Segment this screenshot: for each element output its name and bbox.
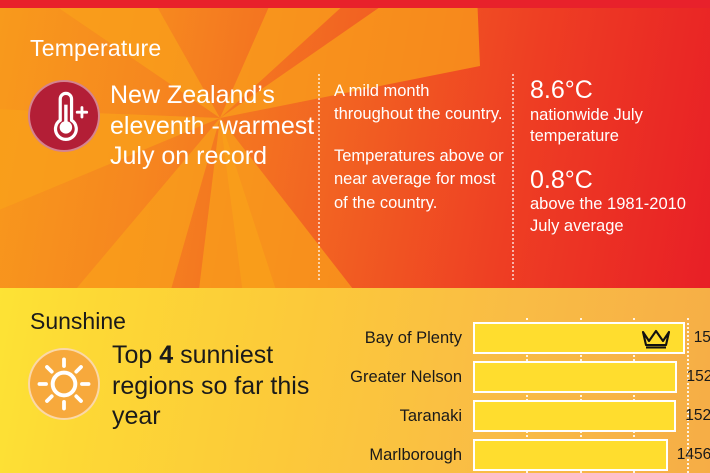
top-red-strip	[0, 0, 710, 8]
temperature-section: Temperature New Zealand’s eleventh -warm…	[0, 8, 710, 288]
chart-row: Bay of Plenty1583	[330, 320, 710, 356]
temperature-headline: New Zealand’s eleventh -warmest July on …	[110, 80, 320, 172]
chart-row-label: Marlborough	[330, 437, 462, 473]
divider-right	[512, 74, 514, 280]
chart-bar	[473, 361, 677, 393]
infographic-page: Temperature New Zealand’s eleventh -warm…	[0, 0, 710, 473]
sunniest-regions-bar-chart: Bay of Plenty1583Greater Nelson1529Taran…	[330, 318, 710, 473]
sunshine-headline-number: 4	[159, 341, 173, 369]
sun-glyph	[30, 350, 98, 418]
stat-value: 8.6°C	[530, 76, 705, 105]
sunshine-headline-pre: Top	[112, 341, 159, 369]
crown-icon	[641, 328, 671, 349]
chart-row-label: Bay of Plenty	[330, 320, 462, 356]
chart-bar-value: 1520	[685, 398, 710, 434]
chart-row-label: Taranaki	[330, 398, 462, 434]
stat-item: 8.6°C nationwide July temperature	[530, 76, 705, 148]
stat-value: 0.8°C	[530, 166, 705, 195]
chart-row-label: Greater Nelson	[330, 359, 462, 395]
chart-bar-value: 1529	[686, 359, 710, 395]
chart-row: Marlborough1456	[330, 437, 710, 473]
sunshine-headline: Top 4 sunniest regions so far this year	[112, 340, 312, 432]
temperature-notes: A mild month throughout the country. Tem…	[334, 80, 509, 233]
chart-bar	[473, 400, 676, 432]
chart-bar-value: 1456	[677, 437, 710, 473]
sun-icon	[28, 348, 100, 420]
temperature-section-title: Temperature	[30, 35, 161, 62]
stat-label: above the 1981-2010 July average	[530, 194, 705, 237]
sunshine-section: Sunshine Top 4 sunniest regions so far t…	[0, 288, 710, 473]
stat-label: nationwide July temperature	[530, 105, 705, 148]
temperature-note-2: Temperatures above or near average for m…	[334, 145, 509, 215]
sunshine-section-title: Sunshine	[30, 308, 126, 335]
chart-bar	[473, 439, 668, 471]
chart-row: Taranaki1520	[330, 398, 710, 434]
temperature-stats: 8.6°C nationwide July temperature 0.8°C …	[530, 76, 705, 255]
chart-row: Greater Nelson1529	[330, 359, 710, 395]
divider-left	[318, 74, 320, 280]
thermometer-icon	[28, 80, 100, 152]
temperature-note-1: A mild month throughout the country.	[334, 80, 509, 127]
chart-bar-value: 1583	[694, 320, 710, 356]
thermometer-glyph	[30, 82, 98, 150]
stat-item: 0.8°C above the 1981-2010 July average	[530, 166, 705, 238]
